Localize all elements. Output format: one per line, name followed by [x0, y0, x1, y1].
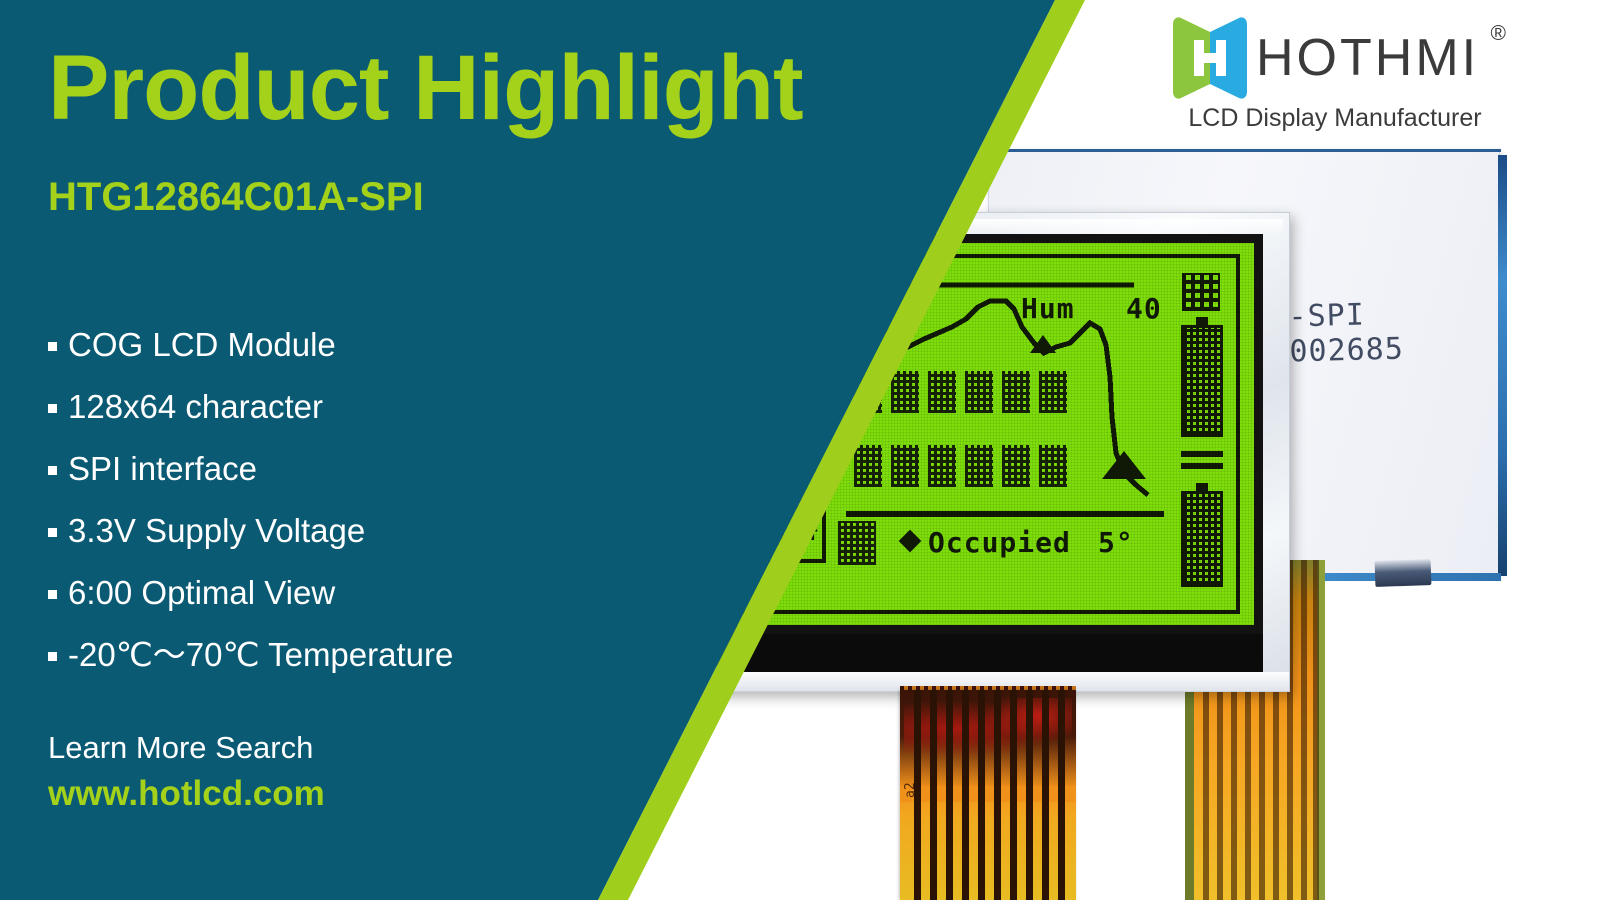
rear-panel-connector-tab: [1375, 559, 1432, 587]
rear-panel-marking-line1: -SPI: [1288, 298, 1403, 336]
list-item: COG LCD Module: [48, 313, 648, 375]
poster-canvas: -SPI 002685 On: [0, 0, 1600, 900]
logo-row: HOTHMI ®: [1170, 14, 1500, 102]
lcd-block-cell: [928, 371, 956, 413]
battery-cap-top: [1196, 317, 1208, 325]
grid-icon: [1182, 273, 1220, 311]
flex-trace: [1026, 690, 1033, 900]
brand-logo: HOTHMI ® LCD Display Manufacturer: [1170, 14, 1500, 136]
humidity-label: Hum: [1021, 295, 1075, 323]
cta-label: Learn More Search: [48, 730, 313, 766]
product-model-number: HTG12864C01A-SPI: [48, 175, 424, 220]
flex-trace: [930, 690, 937, 900]
flex-trace: [978, 690, 985, 900]
lcd-status-divider: [846, 511, 1164, 517]
list-item: 128x64 character: [48, 375, 648, 437]
lcd-block-cell: [891, 445, 919, 487]
lcd-block-cell: [928, 445, 956, 487]
list-item: 6:00 Optimal View: [48, 561, 648, 623]
feature-label: SPI interface: [68, 452, 257, 485]
bullet-square-icon: [48, 404, 57, 413]
feature-label: -20℃～70℃ Temperature: [68, 638, 453, 671]
list-item: SPI interface: [48, 437, 648, 499]
flex-trace: [994, 690, 1001, 900]
battery-cap-bottom: [1196, 483, 1208, 491]
flex-cable-band: [900, 786, 1076, 802]
bullet-square-icon: [48, 652, 57, 661]
hothmi-hexagon-h-logo-icon: [1170, 15, 1250, 101]
feature-list: COG LCD Module 128x64 character SPI inte…: [48, 313, 648, 685]
lcd-block-cell: [1002, 371, 1030, 413]
flex-trace: [1301, 560, 1307, 900]
logo-wordmark: HOTHMI: [1256, 32, 1479, 84]
registered-trademark-icon: ®: [1491, 22, 1506, 46]
lcd-block-cell: [1039, 445, 1067, 487]
battery-full-icon-bottom: [1181, 491, 1223, 587]
lcd-block-cell: [965, 371, 993, 413]
lcd-block-row: [854, 445, 1067, 487]
list-item: -20℃～70℃ Temperature: [48, 623, 648, 685]
humidity-value: 40: [1126, 295, 1162, 323]
temperature-value: 5°: [1098, 529, 1134, 557]
lcd-bar-1: [1181, 451, 1223, 457]
bullet-square-icon: [48, 342, 57, 351]
lcd-status-mosaic: [838, 521, 876, 565]
rear-panel-top-edge: [989, 149, 1501, 152]
lcd-block-cell: [891, 371, 919, 413]
lcd-bar-2: [1181, 463, 1223, 469]
rear-panel-marking-line2: 002685: [1289, 332, 1404, 370]
feature-label: COG LCD Module: [68, 328, 336, 361]
rear-panel-right-edge: [1498, 155, 1507, 576]
left-text-column: Product Highlight HTG12864C01A-SPI COG L…: [44, 0, 664, 900]
feature-label: 128x64 character: [68, 390, 323, 423]
lcd-block-cell: [965, 445, 993, 487]
status-label: Occupied: [928, 529, 1071, 557]
lcd-block-cell: [1039, 371, 1067, 413]
rear-panel-marking: -SPI 002685: [1288, 298, 1404, 371]
feature-label: 3.3V Supply Voltage: [68, 514, 365, 547]
website-link[interactable]: www.hotlcd.com: [48, 774, 325, 814]
flex-trace: [1010, 690, 1017, 900]
page-title: Product Highlight: [48, 42, 803, 134]
bullet-square-icon: [48, 466, 57, 475]
logo-mark-svg: [1170, 15, 1250, 101]
front-flex-cable: a2: [900, 690, 1076, 900]
feature-label: 6:00 Optimal View: [68, 576, 335, 609]
flex-trace: [1042, 690, 1049, 900]
bullet-square-icon: [48, 590, 57, 599]
battery-full-icon-top: [1181, 325, 1223, 437]
flex-trace: [1058, 690, 1065, 900]
lcd-block-cell: [1002, 445, 1030, 487]
flex-trace: [946, 690, 953, 900]
list-item: 3.3V Supply Voltage: [48, 499, 648, 561]
lcd-block-cell: [854, 445, 882, 487]
flex-cable-label: a2: [903, 782, 918, 798]
flex-trace: [1313, 560, 1319, 900]
flex-trace: [962, 690, 969, 900]
logo-tagline: LCD Display Manufacturer: [1170, 104, 1500, 133]
bullet-square-icon: [48, 528, 57, 537]
